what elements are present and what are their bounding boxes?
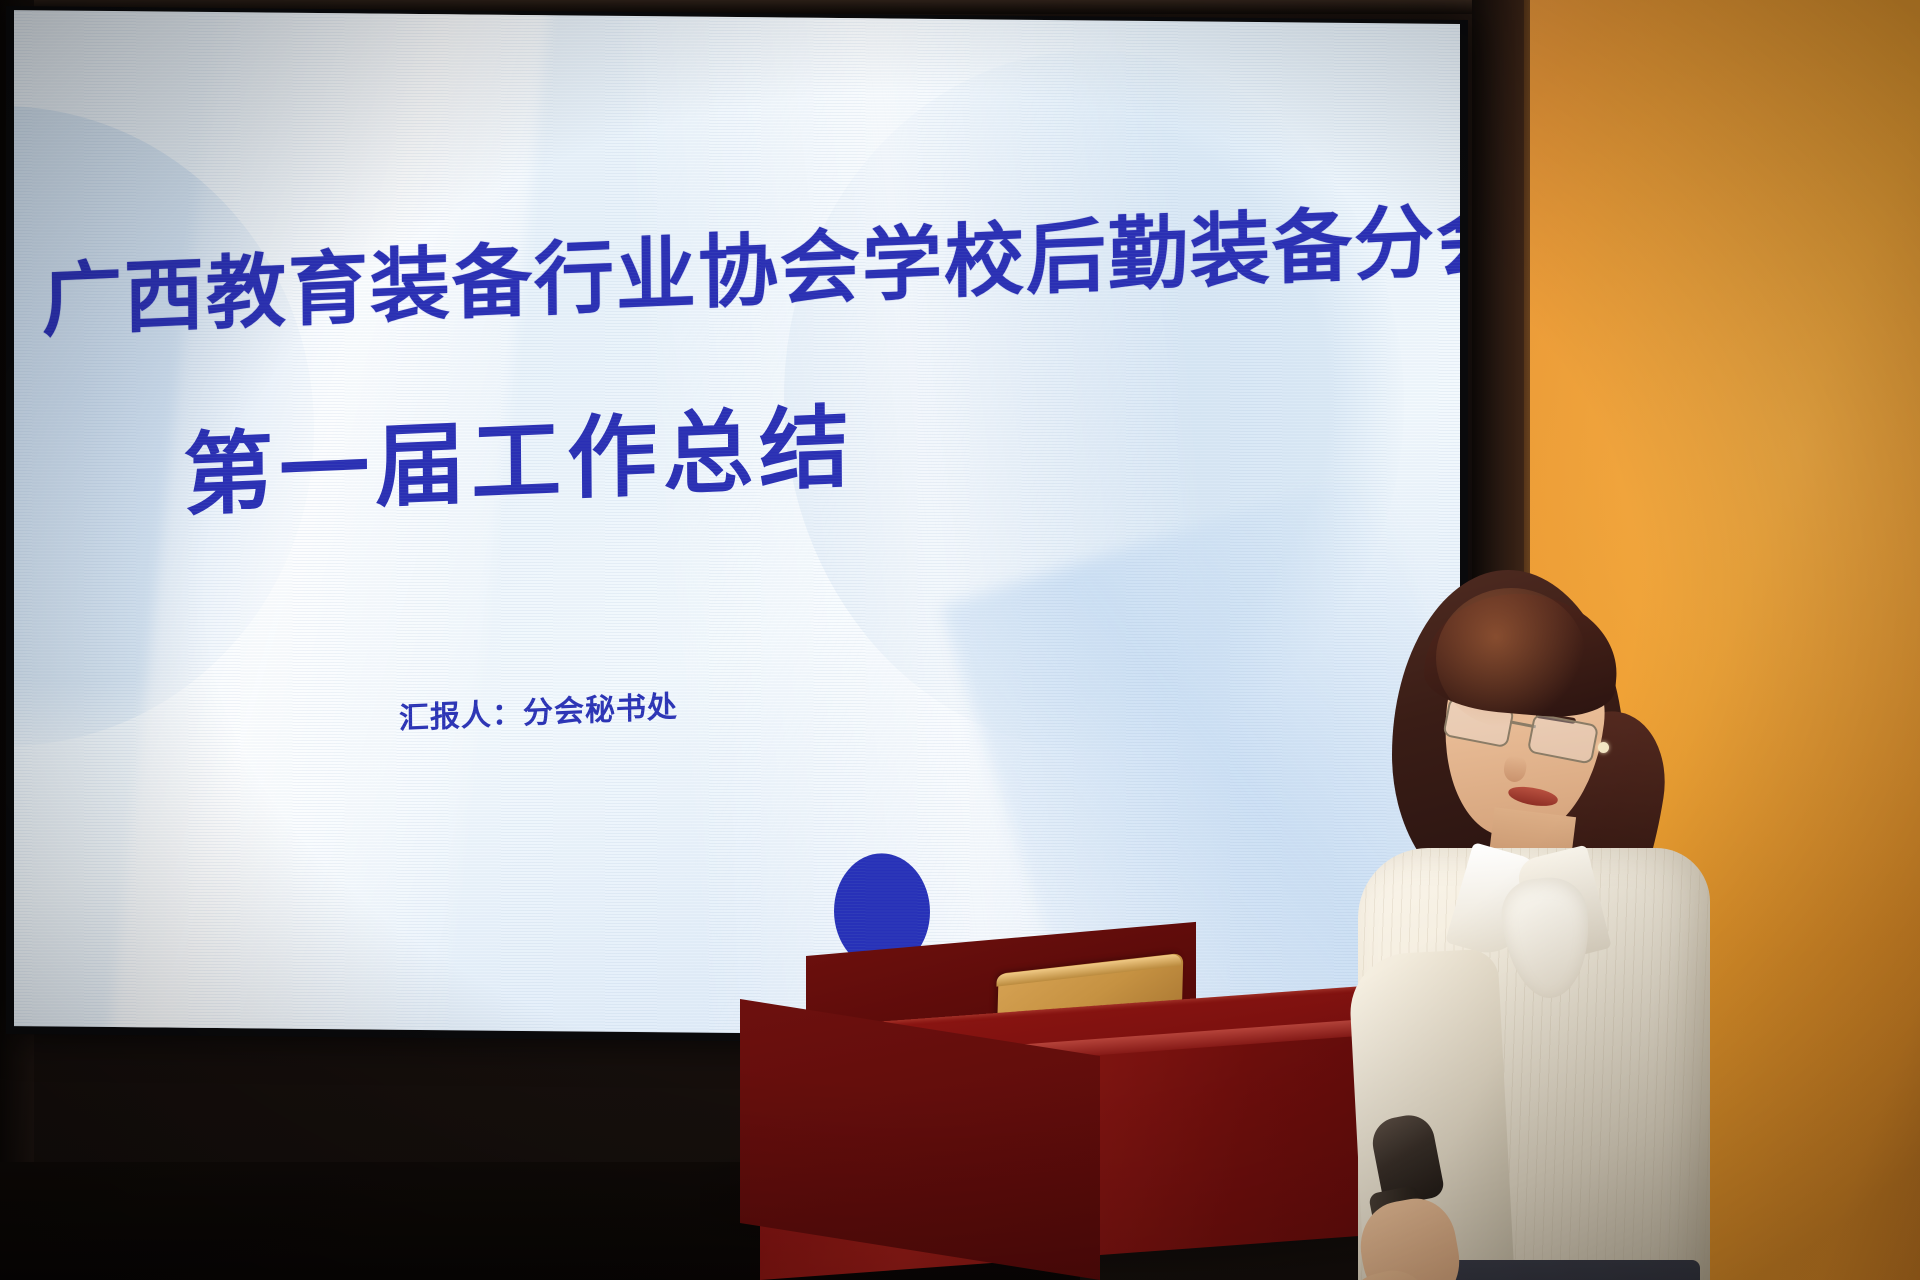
slide-text-group: 广西教育装备行业协会学校后勤装备分会 第一届工作总结 汇报人：分会秘书处 — [14, 10, 1460, 1026]
slide-title-line-1: 广西教育装备行业协会学校后勤装备分会 — [41, 179, 1392, 353]
speaker-earring — [1598, 742, 1609, 753]
slide-title-line-2: 第一届工作总结 — [183, 374, 856, 533]
speaker-figure — [1340, 560, 1760, 1280]
projection-screen-frame: 广西教育装备行业协会学校后勤装备分会 第一届工作总结 汇报人：分会秘书处 — [6, 6, 1468, 1048]
speaker-hair-highlight — [1436, 588, 1586, 728]
projection-screen: 广西教育装备行业协会学校后勤装备分会 第一届工作总结 汇报人：分会秘书处 — [14, 10, 1460, 1040]
presentation-photo-scene: 广西教育装备行业协会学校后勤装备分会 第一届工作总结 汇报人：分会秘书处 hp — [0, 0, 1920, 1280]
slide-presenter-label: 汇报人：分会秘书处 — [399, 682, 678, 738]
